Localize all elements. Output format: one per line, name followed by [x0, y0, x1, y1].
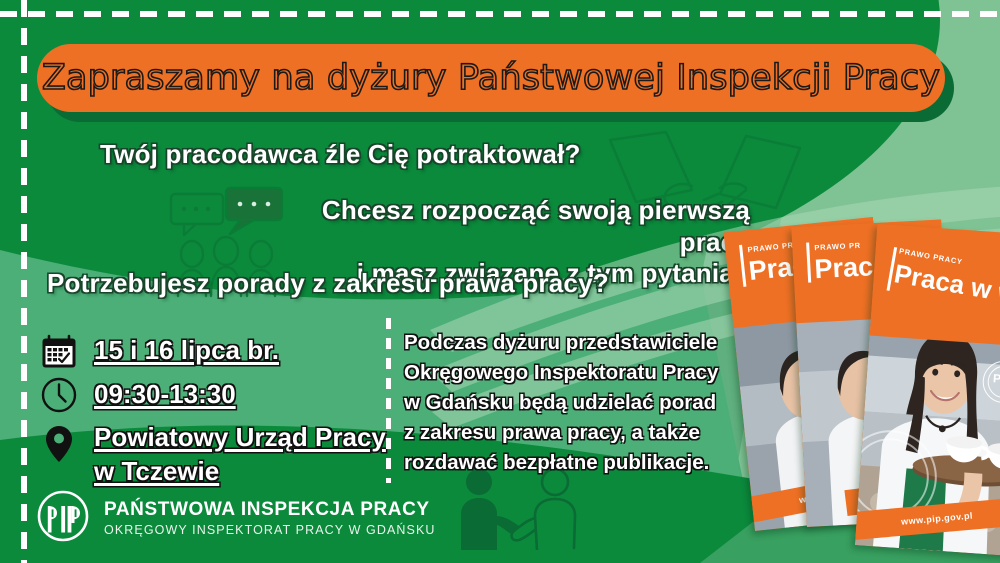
- detail-row-time: 09:30-13:30: [38, 374, 236, 416]
- footer-text-block: PAŃSTWOWA INSPEKCJA PRACY OKRĘGOWY INSPE…: [104, 499, 436, 539]
- detail-place-line1: Powiatowy Urząd Pracy: [94, 422, 386, 452]
- question-2-part-1: Chcesz rozpocząć swoją pierwszą pracę: [300, 195, 750, 258]
- calendar-icon: [38, 330, 80, 372]
- footer-branding: PAŃSTWOWA INSPEKCJA PRACY OKRĘGOWY INSPE…: [36, 489, 436, 548]
- paragraph-line-1: Podczas dyżuru przedstawiciele: [404, 328, 742, 358]
- title-banner: Zapraszamy na dyżury Państwowej Inspekcj…: [37, 44, 945, 112]
- paragraph-line-5: rozdawać bezpłatne publikacje.: [404, 448, 742, 478]
- info-paragraph: Podczas dyżuru przedstawiciele Okręgoweg…: [404, 328, 742, 478]
- detail-date-value: 15 i 16 lipca br.: [94, 334, 279, 368]
- detail-row-date: 15 i 16 lipca br.: [38, 330, 279, 372]
- pip-logo-icon: [36, 489, 90, 548]
- detail-time-value: 09:30-13:30: [94, 378, 236, 412]
- paragraph-line-4: z zakresu prawa pracy, a także: [404, 418, 742, 448]
- page-title: Zapraszamy na dyżury Państwowej Inspekcj…: [42, 58, 940, 98]
- clock-icon: [38, 374, 80, 416]
- brochure-stack: PRAWO PRACY Praca www.pip.gov.pl PRAWO P…: [735, 205, 1000, 563]
- org-unit: OKRĘGOWY INSPEKTORAT PRACY W GDAŃSKU: [104, 523, 436, 538]
- pip-seal-letters: PIP: [992, 371, 1000, 386]
- question-line-1: Twój pracodawca źle Cię potraktował?: [100, 139, 581, 171]
- poster-canvas: Zapraszamy na dyżury Państwowej Inspekcj…: [0, 0, 1000, 563]
- frame-dashed-top: [0, 11, 1000, 17]
- brochure-2-title: Prac: [814, 251, 874, 285]
- paragraph-line-2: Okręgowego Inspektoratu Pracy: [404, 358, 742, 388]
- paragraph-line-3: w Gdańsku będą udzielać porad: [404, 388, 742, 418]
- org-name: PAŃSTWOWA INSPEKCJA PRACY: [104, 499, 436, 521]
- detail-row-place: Powiatowy Urząd Pracy w Tczewie: [38, 421, 386, 489]
- brochure-3: PRAWO PRACY Praca w wakacje PIP www.pip.…: [855, 224, 1000, 557]
- location-pin-icon: [38, 423, 80, 465]
- question-line-3: Potrzebujesz porady z zakresu prawa prac…: [47, 268, 609, 300]
- detail-place-line2: w Tczewie: [94, 456, 219, 486]
- brochure-3-url: www.pip.gov.pl: [901, 511, 974, 527]
- frame-dashed-left: [21, 0, 27, 563]
- vertical-dashed-divider: [386, 318, 391, 483]
- detail-place-value: Powiatowy Urząd Pracy w Tczewie: [94, 421, 386, 489]
